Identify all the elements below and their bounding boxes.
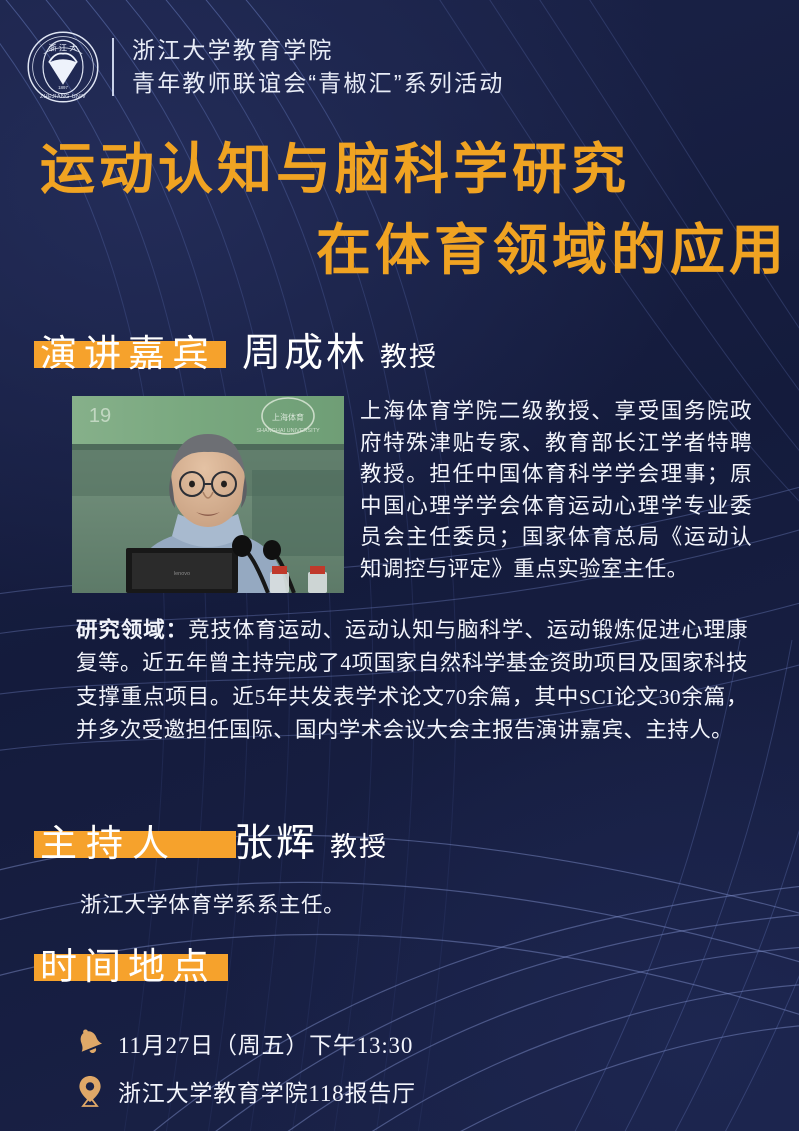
- event-location: 浙江大学教育学院118报告厅: [118, 1074, 416, 1108]
- svg-text:1897: 1897: [58, 85, 68, 90]
- time-place-section-heading: 时间地点: [40, 948, 216, 985]
- speaker-heading-row: 演讲嘉宾 周成林 教授: [40, 322, 438, 378]
- host-section-heading: 主持人: [40, 825, 178, 862]
- speaker-section-label: 演讲嘉宾: [40, 333, 216, 374]
- header-divider: [112, 38, 114, 96]
- svg-text:SHANGHAI UNIVERSITY: SHANGHAI UNIVERSITY: [256, 428, 320, 434]
- svg-text:浙 江 大: 浙 江 大: [49, 43, 78, 53]
- host-rank: 教授: [330, 825, 388, 864]
- speaker-name: 周成林: [242, 322, 368, 378]
- poster-title: 运动认知与脑科学研究 在体育领域的应用: [0, 136, 799, 284]
- bell-icon: [76, 1027, 104, 1059]
- poster-header: 浙 江 大 ZHEJIANG UNIV 1897 浙江大学教育学院 青年教师联谊…: [26, 30, 505, 104]
- host-section-label: 主持人: [40, 823, 178, 864]
- svg-text:上海体育: 上海体育: [272, 412, 304, 422]
- event-poster: 浙 江 大 ZHEJIANG UNIV 1897 浙江大学教育学院 青年教师联谊…: [0, 0, 799, 1131]
- speaker-photo: 上海体育 SHANGHAI UNIVERSITY 19 lenovo: [72, 396, 344, 593]
- event-time: 11月27日（周五）下午13:30: [118, 1026, 413, 1060]
- header-text-block: 浙江大学教育学院 青年教师联谊会“青椒汇”系列活动: [132, 37, 505, 96]
- time-place-heading: 时间地点: [40, 948, 216, 985]
- speaker-bio: 上海体育学院二级教授、享受国务院政府特殊津贴专家、教育部长江学者特聘教授。担任中…: [360, 396, 752, 586]
- speaker-section-heading: 演讲嘉宾: [40, 335, 216, 372]
- research-label: 研究领域：: [76, 618, 188, 642]
- svg-text:19: 19: [89, 405, 111, 427]
- header-series: 青年教师联谊会“青椒汇”系列活动: [132, 70, 505, 97]
- speaker-research-paragraph: 研究领域：竞技体育运动、运动认知与脑科学、运动锻炼促进心理康复等。近五年曾主持完…: [76, 614, 748, 747]
- host-name: 张辉: [234, 812, 318, 868]
- host-description: 浙江大学体育学系系主任。: [80, 888, 345, 919]
- location-row: 浙江大学教育学院118报告厅: [76, 1074, 416, 1108]
- header-organization: 浙江大学教育学院: [132, 37, 505, 64]
- time-row: 11月27日（周五）下午13:30: [76, 1026, 416, 1060]
- location-pin-icon: [76, 1075, 104, 1107]
- zhejiang-university-seal-icon: 浙 江 大 ZHEJIANG UNIV 1897: [26, 30, 100, 104]
- svg-text:lenovo: lenovo: [174, 571, 190, 577]
- title-line-1: 运动认知与脑科学研究: [0, 136, 799, 203]
- host-heading-row: 主持人 张辉 教授: [40, 812, 388, 868]
- time-place-list: 11月27日（周五）下午13:30 浙江大学教育学院118报告厅: [76, 1026, 416, 1108]
- time-place-section-label: 时间地点: [40, 946, 216, 987]
- speaker-rank: 教授: [380, 335, 438, 374]
- svg-text:ZHEJIANG UNIV: ZHEJIANG UNIV: [40, 94, 86, 100]
- title-line-2: 在体育领域的应用: [0, 217, 799, 284]
